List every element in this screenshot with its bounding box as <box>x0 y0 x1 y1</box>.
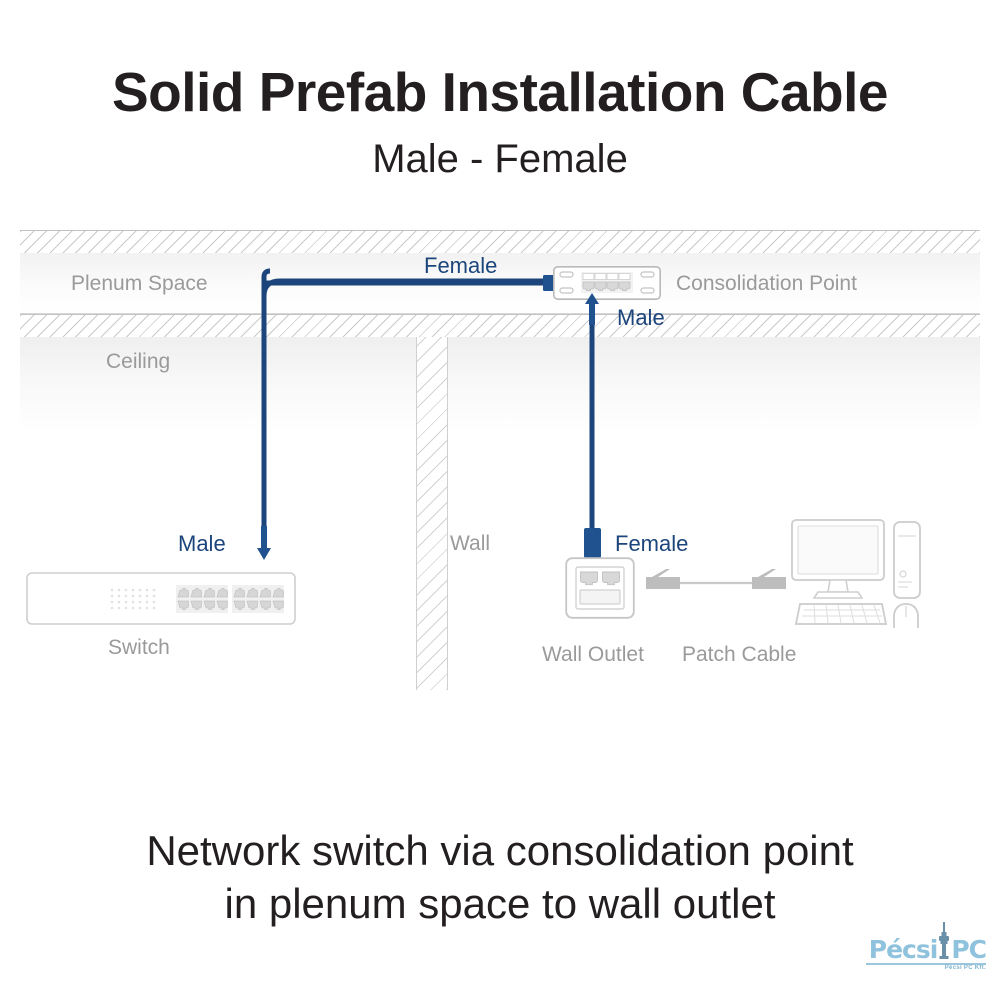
logo-word-pc: PC <box>951 937 986 962</box>
diagram-caption: Network switch via consolidation point i… <box>0 825 1000 930</box>
male-connector-consolidation <box>581 293 605 325</box>
male-label-switch: Male <box>178 531 226 557</box>
tv-tower-icon <box>936 922 952 962</box>
rj45-wall-outlet-icon <box>565 557 635 619</box>
wall-outlet-label: Wall Outlet <box>542 643 644 667</box>
ceiling-label: Ceiling <box>106 350 170 374</box>
male-connector-switch <box>253 526 277 560</box>
upper-slab-hatch <box>20 230 980 254</box>
pc-tower-icon <box>894 522 920 598</box>
female-label-plenum: Female <box>424 253 497 279</box>
switch-label: Switch <box>108 636 170 660</box>
keyboard-icon <box>796 604 886 624</box>
logo-word-pecsi: Pécsi <box>869 937 938 962</box>
wall-label: Wall <box>450 532 490 556</box>
patch-panel-icon <box>553 266 661 300</box>
network-switch-device[interactable] <box>26 572 296 625</box>
consolidation-point-device[interactable] <box>553 266 661 300</box>
monitor-icon <box>792 520 884 598</box>
patch-cable-label: Patch Cable <box>682 643 796 667</box>
caption-line-2: in plenum space to wall outlet <box>0 878 1000 931</box>
male-label-consolidation: Male <box>617 305 665 331</box>
brand-logo[interactable]: Pécsi PC Pécsi PC Kft. <box>866 928 986 984</box>
network-switch-icon <box>26 572 296 625</box>
patch-cable-icon <box>646 565 786 597</box>
consolidation-point-label: Consolidation Point <box>676 272 857 296</box>
computer-workstation <box>790 518 935 628</box>
diagram-canvas: Solid Prefab Installation Cable Male - F… <box>0 0 1000 1000</box>
ceiling-slab-hatch <box>20 314 980 338</box>
page-title: Solid Prefab Installation Cable <box>0 64 1000 122</box>
male-plug-arrow-icon <box>253 526 277 560</box>
female-jack-block-icon <box>583 528 603 558</box>
caption-line-1: Network switch via consolidation point <box>0 825 1000 878</box>
patch-cable-graphic <box>646 565 786 597</box>
wall-structure <box>416 337 448 690</box>
male-plug-arrow-icon <box>581 293 605 325</box>
mouse-icon <box>894 604 918 628</box>
logo-tagline: Pécsi PC Kft. <box>866 965 986 971</box>
plenum-space-label: Plenum Space <box>71 272 208 296</box>
female-label-outlet: Female <box>615 531 688 557</box>
page-subtitle: Male - Female <box>0 138 1000 180</box>
female-connector-outlet <box>583 528 603 558</box>
desktop-computer-icon <box>790 518 935 628</box>
wall-outlet-device[interactable] <box>565 557 635 619</box>
